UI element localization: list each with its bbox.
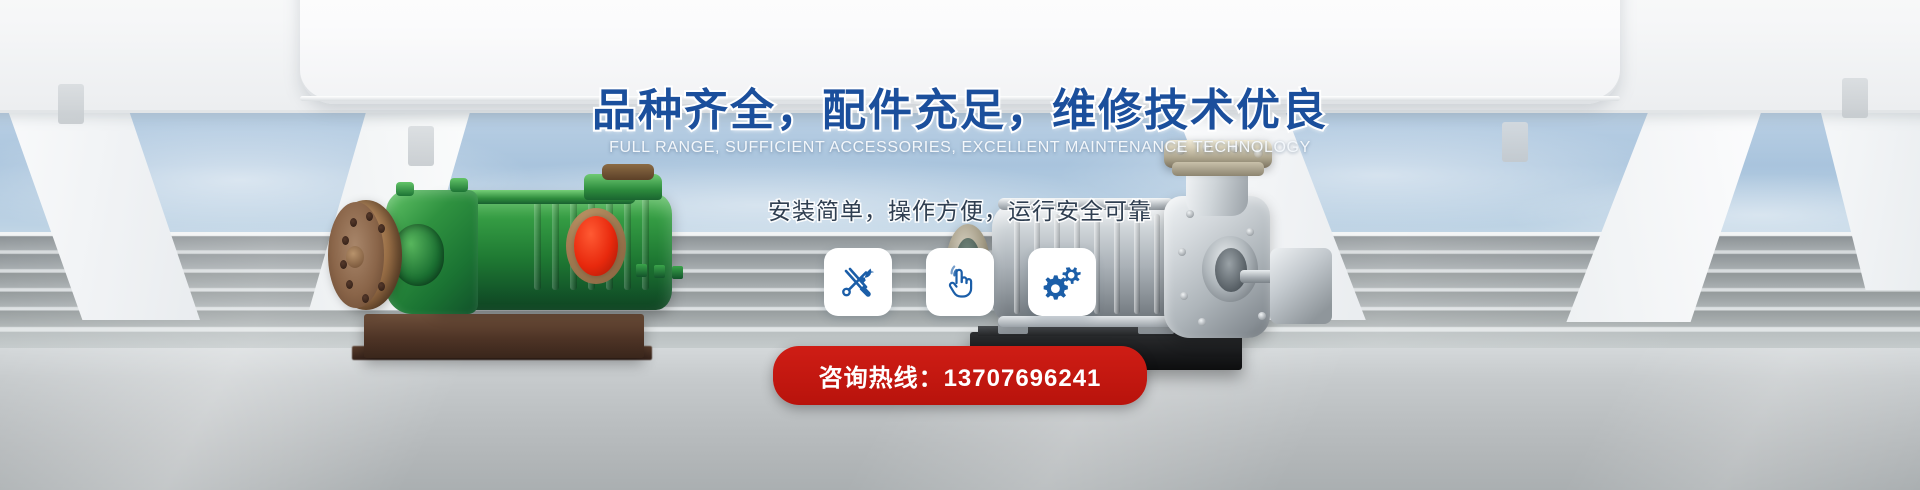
pump-top-flange-collar [1172,162,1264,176]
pump-tie-rod [998,198,1174,210]
gears-icon [1043,263,1081,301]
tools-icon [839,263,877,301]
hotline-button[interactable]: 咨询热线：13707696241 [773,346,1148,405]
green-pump-product-image [340,168,780,378]
canopy-roof-inner [300,0,1620,104]
canopy-bracket [1842,78,1868,118]
badge-easy-operation[interactable] [926,248,994,316]
badge-tools[interactable] [824,248,892,316]
canopy-bracket [408,126,434,166]
pump-wooden-pallet [364,314,644,358]
pump-lower-tie-rod [998,316,1180,327]
pump-stuffing-box [1270,248,1332,324]
badge-parts-gears[interactable] [1028,248,1096,316]
canopy-bracket [58,84,84,124]
pump-discharge-flange [602,164,654,180]
pump-red-port [574,216,618,276]
promo-banner: 品种齐全，配件充足，维修技术优良 FULL RANGE, SUFFICIENT … [0,0,1920,490]
canopy-bracket [1502,122,1528,162]
pump-flange-hub [346,246,364,268]
canopy-edge-highlight [300,96,1620,101]
hand-click-icon [941,263,979,301]
